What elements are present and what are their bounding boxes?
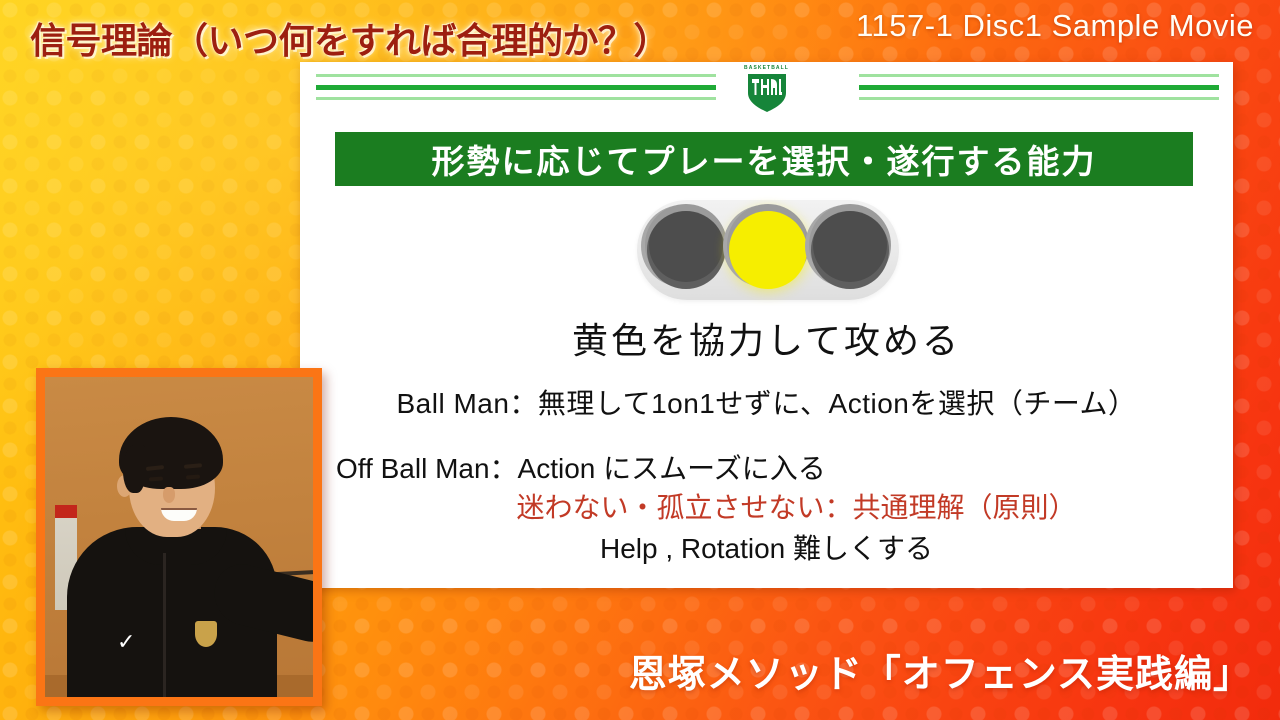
shield-icon — [746, 73, 788, 113]
presenter-photo: ✓ — [45, 377, 313, 697]
rule-line-bold — [316, 85, 716, 90]
rule-line-thin — [859, 74, 1219, 77]
traffic-lamp-center-yellow — [729, 211, 807, 289]
rule-line-bold — [859, 85, 1219, 90]
slide-title-text: 形勢に応じてプレーを選択・遂行する能力 — [432, 135, 1097, 183]
slide-line-help-rotation: Help , Rotation 難しくする — [300, 527, 1233, 567]
nike-swoosh-icon: ✓ — [117, 632, 165, 652]
header-rule-right — [859, 74, 1219, 100]
jacket-zipper — [163, 553, 166, 697]
slide-line-ball-man: Ball Man：無理して1on1せずに、Actionを選択（チーム） — [300, 382, 1233, 422]
traffic-lamp-right — [811, 211, 889, 289]
team-crest-icon — [195, 621, 217, 647]
presenter-video-inset[interactable]: ✓ — [36, 368, 322, 706]
slide-line-off-ball-man: Off Ball Man：Action にスムーズに入る — [300, 447, 1233, 487]
traffic-signal-graphic — [637, 200, 899, 300]
header-rule-left — [316, 74, 716, 100]
presenter-nose — [163, 487, 175, 503]
slide-title-banner: 形勢に応じてプレーを選択・遂行する能力 — [335, 132, 1193, 186]
slide-header: BASKETBALL — [300, 62, 1233, 124]
presentation-slide: BASKETBALL 形勢に応じてプレーを選択・遂行する能力 — [300, 62, 1233, 588]
team-logo: BASKETBALL — [739, 64, 795, 116]
slide-headline: 黄色を協力して攻める — [300, 312, 1233, 364]
video-frame: 信号理論（いつ何をすれば合理的か？） 1157-1 Disc1 Sample M… — [0, 0, 1280, 720]
rule-line-thin — [316, 97, 716, 100]
logo-wordmark: BASKETBALL — [744, 64, 789, 72]
slide-line-emphasis: 迷わない・孤立させない：共通理解（原則） — [300, 486, 1233, 526]
rule-line-thin — [859, 97, 1219, 100]
bottom-caption: 恩塚メソッド「オフェンス実践編」 — [629, 643, 1252, 698]
rule-line-thin — [316, 74, 716, 77]
traffic-lamp-left — [647, 211, 725, 289]
